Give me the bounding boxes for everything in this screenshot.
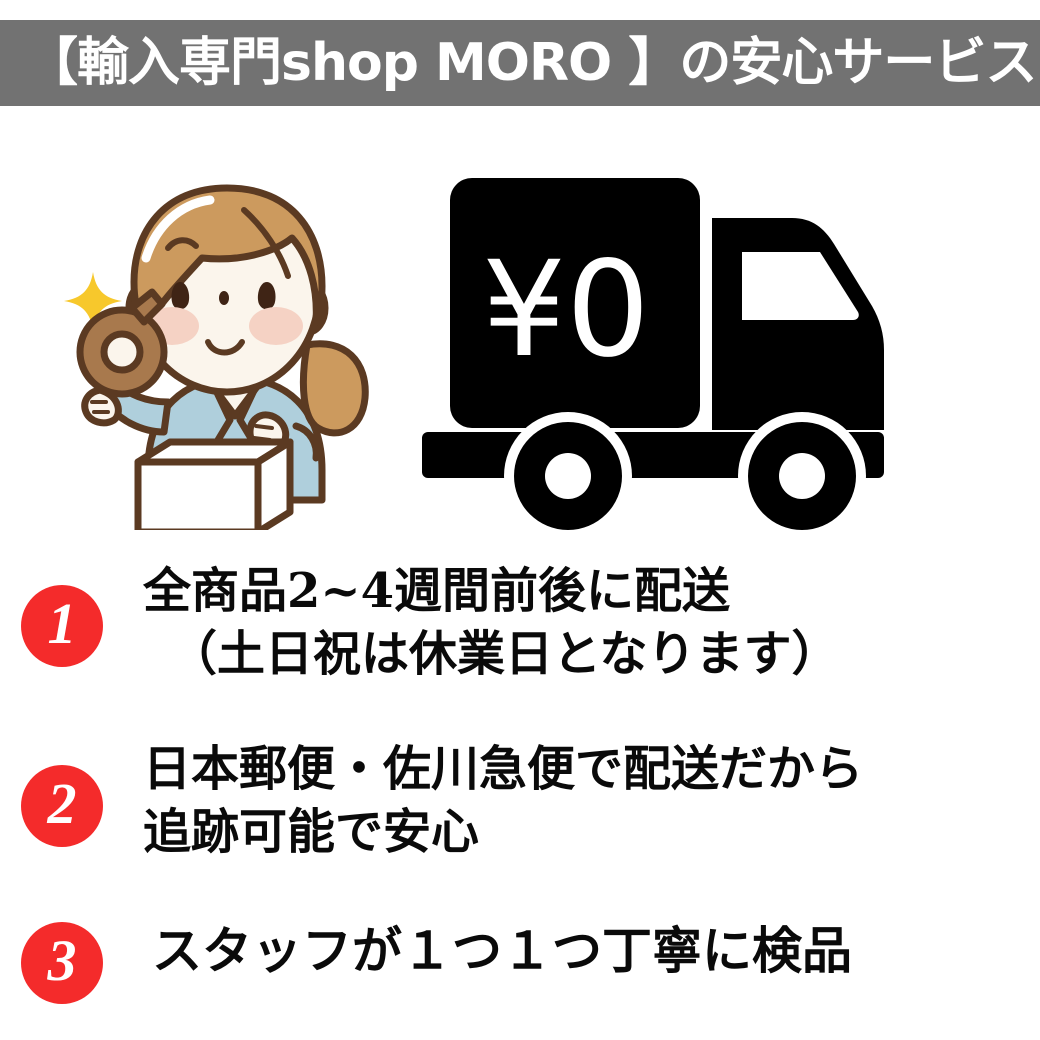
woman-illustration (60, 140, 410, 530)
page-title: 【輸入専門shop MORO 】の安心サービス (26, 37, 1036, 89)
header-banner: 【輸入専門shop MORO 】の安心サービス (0, 20, 1040, 106)
feature-text-1: 全商品2~4週間前後に配送 （土日祝は休業日となります） (143, 560, 840, 687)
woman-cheek-right (249, 307, 303, 345)
truck-illustration: ¥0 (420, 140, 1010, 530)
feature-badge-2: 2 (21, 765, 103, 847)
feature-line-3-1: スタッフが１つ１つ丁寧に検品 (152, 921, 852, 980)
cardboard-box-front (138, 462, 258, 530)
feature-line-2-2: 追跡可能で安心 (143, 804, 479, 860)
woman-ponytail (303, 344, 365, 433)
feature-text-2: 日本郵便・佐川急便で配送だから 追跡可能で安心 (143, 738, 863, 865)
feature-badge-3: 3 (21, 922, 103, 1004)
cardboard-box-side (258, 442, 290, 530)
feature-line-2-1: 日本郵便・佐川急便で配送だから (143, 741, 863, 797)
feature-line-1-2: （土日祝は休業日となります） (143, 623, 840, 686)
feature-text-3: スタッフが１つ１つ丁寧に検品 (152, 918, 852, 984)
illustration-area: ¥0 (0, 110, 1040, 540)
truck-cab (712, 218, 884, 430)
feature-badge-1: 1 (21, 585, 103, 667)
feature-line-1-1: 全商品2~4週間前後に配送 (143, 563, 730, 619)
truck-cargo-label: ¥0 (482, 233, 650, 387)
